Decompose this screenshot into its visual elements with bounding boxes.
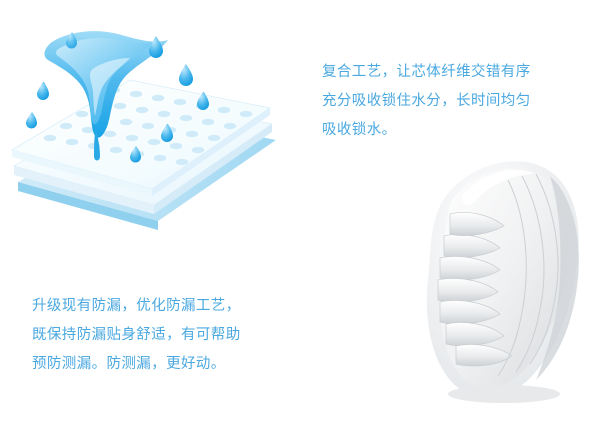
absorbent-layers-illustration [8, 16, 298, 266]
product-illustration-svg [400, 140, 600, 410]
feature-text-absorption: 复合工艺，让芯体纤维交错有序 充分吸收锁住水分，长时间均匀 吸收锁水。 [322, 58, 582, 145]
feature-text-leak-protection: 升级现有防漏，优化防漏工艺， 既保持防漏贴身舒适，有可帮助 预防测漏。防测漏，更… [32, 292, 302, 379]
diaper-product-illustration [400, 140, 600, 410]
page-root: 复合工艺，让芯体纤维交错有序 充分吸收锁住水分，长时间均匀 吸收锁水。 升级现有… [0, 0, 600, 424]
product-shadow [448, 385, 560, 403]
pad-illustration-svg [8, 16, 298, 266]
